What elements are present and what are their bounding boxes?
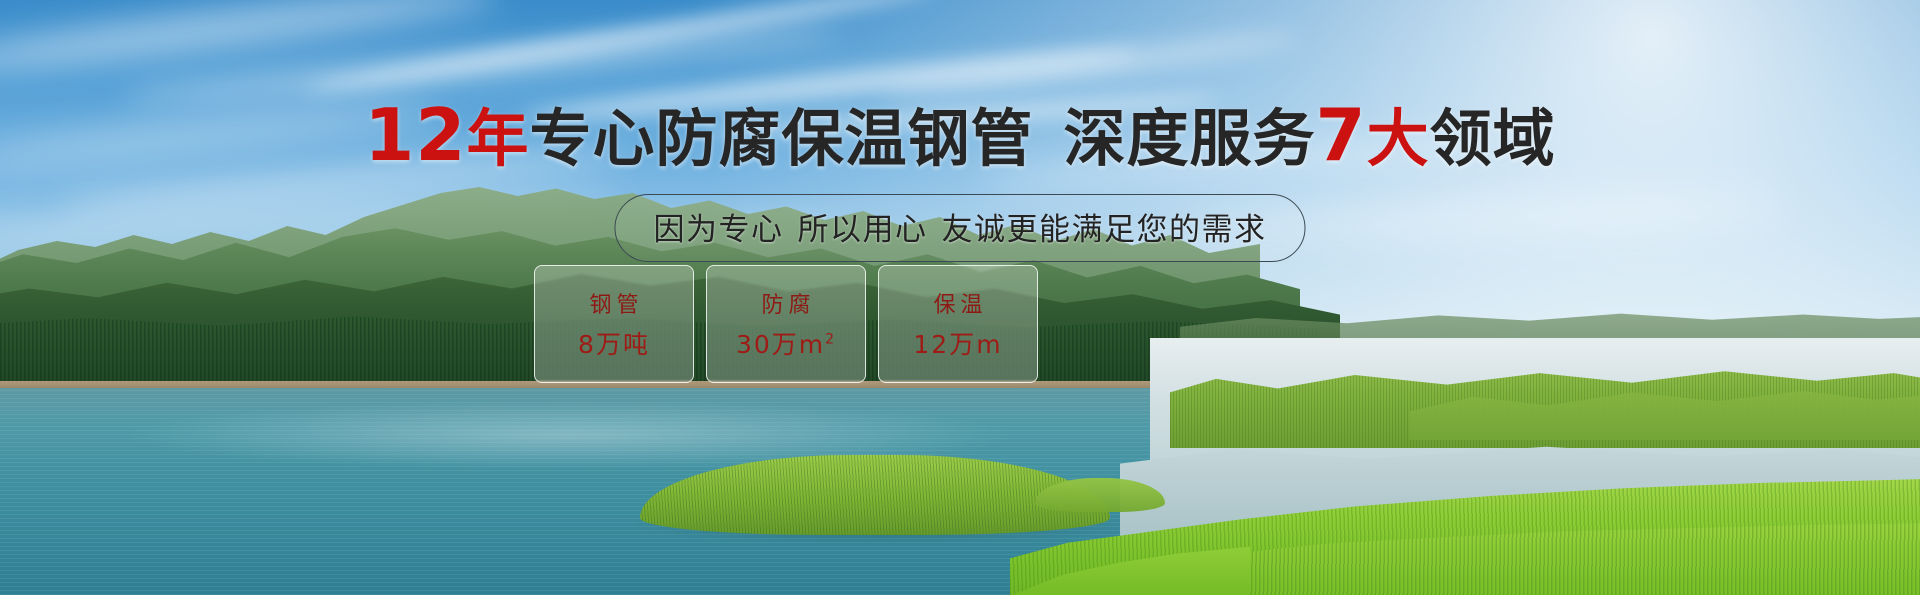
stat-card-steel-pipe[interactable]: 钢管 8万吨 [534,265,694,383]
stat-card-value-text: 8万吨 [578,330,650,359]
headline-fields-number: 7 [1316,93,1367,177]
banner-headline: 12年专心防腐保温钢管深度服务7大领域 [0,88,1920,178]
stat-card-value: 8万吨 [578,325,650,361]
stat-card-value: 12万m [913,325,1002,361]
stat-card-insulation[interactable]: 保温 12万m [878,265,1038,383]
stat-card-title: 防腐 [756,287,815,319]
stat-card-value-text: 12万m [913,330,1002,359]
headline-years-number: 12 [364,93,466,177]
headline-fields-text: 领域 [1430,102,1556,175]
stat-card-group: 钢管 8万吨 防腐 30万m2 保温 12万m [534,265,1038,383]
headline-years-unit: 年 [467,102,530,175]
stat-card-title: 钢管 [584,287,643,319]
stat-card-title: 保温 [928,287,987,319]
stat-card-value: 30万m2 [736,325,836,361]
subtitle-part-1: 因为专心 [654,212,784,248]
banner-subtitle-pill: 因为专心所以用心友诚更能满足您的需求 [615,194,1306,262]
subtitle-part-2: 所以用心 [798,212,928,248]
stat-card-value-text: 30万m [736,330,825,359]
subtitle-part-3: 友诚更能满足您的需求 [942,212,1267,248]
headline-fields-unit: 大 [1367,102,1430,175]
stat-card-anticorrosion[interactable]: 防腐 30万m2 [706,265,866,383]
hero-banner: 12年专心防腐保温钢管深度服务7大领域 因为专心所以用心友诚更能满足您的需求 钢… [0,0,1920,595]
stat-card-value-superscript: 2 [825,332,836,348]
headline-service-text: 深度服务 [1064,102,1316,175]
headline-lead-text: 专心防腐保温钢管 [530,102,1034,175]
